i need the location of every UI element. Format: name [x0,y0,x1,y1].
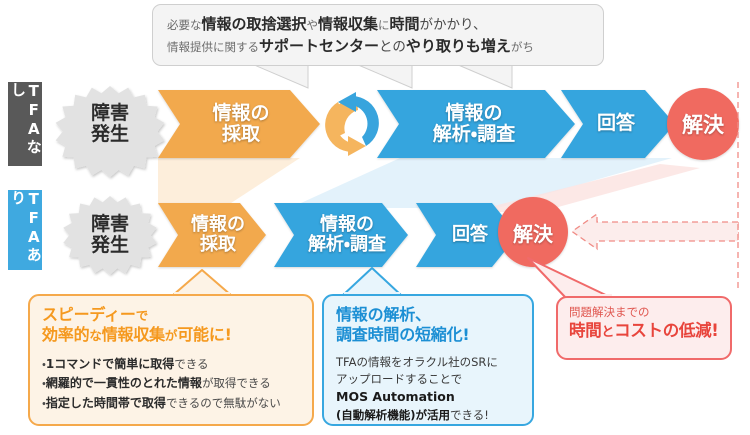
callout-blue-body-line1: TFAの情報をオラクル社のSRに [336,354,521,371]
diagram-canvas: TFAなし TFAあり 必要な情報の取捨選択や情報収集に時間がかかり、 情報提供… [0,0,750,435]
callout-orange-bullets: ・1コマンドで簡単に取得できる ・網羅的で一貫性のとれた情報が取得できる ・指定… [42,355,301,413]
top-comment-balloon: 必要な情報の取捨選択や情報収集に時間がかかり、 情報提供に関するサポートセンター… [152,4,604,66]
chevron-row2-step1 [158,203,266,267]
callout-red-line2: 時間とコストの低減! [569,320,721,342]
callout-blue-body-line2: アップロードすることで [336,371,521,388]
callout-blue-title: 情報の解析、 調査時間の短縮化! [336,305,521,346]
red-dashed-left-arrow [572,214,738,249]
callout-blue-body-tail: できる! [450,408,489,422]
burst-label-row2: 障害 発生 [72,207,148,263]
callout-blue-body-bold2-tail: が活用 [416,408,451,422]
goal-circle-row1 [667,88,739,160]
row-label-tfa-nashi: TFAなし [8,82,42,166]
list-item: ・指定した時間帯で取得できるので無駄がない [42,394,301,413]
top-balloon-line-1: 必要な情報の取捨選択や情報収集に時間がかかり、 [167,13,591,36]
callout-blue-body-bold2: (自動解析機能) [336,408,416,422]
balloon-tails [252,64,512,88]
chevron-row1-step1 [158,90,320,158]
refresh-loop-icon [325,92,379,156]
callout-orange-title: スピーディーで 効率的な情報収集が可能に! [42,305,301,346]
callout-analysis-time: 情報の解析、 調査時間の短縮化! TFAの情報をオラクル社のSRに アップロード… [322,294,534,426]
row-label-tfa-ari: TFAあり [8,190,42,270]
callout-blue-body: TFAの情報をオラクル社のSRに アップロードすることで MOS Automat… [336,354,521,425]
callout-cost-reduction: 問題解決までの 時間とコストの低減! [556,296,732,360]
chevron-row2-step2 [274,203,408,267]
top-balloon-line-2: 情報提供に関するサポートセンターとのやり取りも増えがち [167,35,591,58]
burst-label-row1: 障害 発生 [72,96,148,152]
chevron-row1-step2 [377,90,575,158]
callout-speed-efficiency: スピーディーで 効率的な情報収集が可能に! ・1コマンドで簡単に取得できる ・網… [28,294,314,426]
chevron-row1-step3 [561,90,675,158]
list-item: ・網羅的で一貫性のとれた情報が取得できる [42,374,301,393]
callout-blue-body-bold1: MOS Automation [336,389,455,404]
list-item: ・1コマンドで簡単に取得できる [42,355,301,374]
callout-red-line1: 問題解決までの [569,305,721,320]
goal-circle-row2 [498,197,568,267]
